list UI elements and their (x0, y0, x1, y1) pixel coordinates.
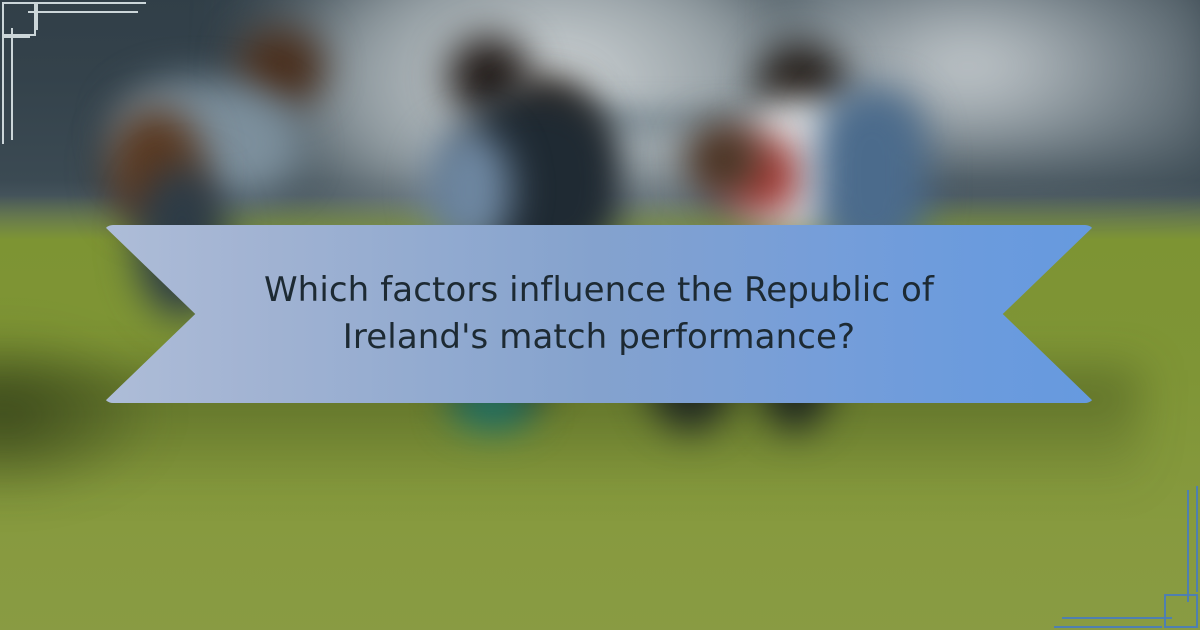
headline-line-2: Ireland's match performance? (343, 320, 855, 355)
headline-line-1: Which factors influence the Republic of (264, 273, 934, 308)
corner-line-top-inner (28, 11, 138, 13)
corner-square-icon (1164, 594, 1198, 628)
corner-line-right-outer (1196, 486, 1198, 592)
corner-line-right-inner (1187, 490, 1189, 602)
headline-banner: Which factors influence the Republic of … (103, 225, 1095, 403)
corner-line-top-outer (38, 2, 146, 4)
corner-ornament-bottom-right (1040, 470, 1200, 630)
corner-line-left-outer (2, 38, 4, 144)
screenshot-stage: Which factors influence the Republic of … (0, 0, 1200, 630)
corner-ornament-top-left (0, 0, 160, 160)
figure-right-arm (686, 122, 762, 196)
banner-text-block: Which factors influence the Republic of … (103, 225, 1095, 403)
corner-line-bottom-outer (1054, 626, 1162, 628)
corner-line-left-inner (11, 28, 13, 140)
corner-joint-vertical (36, 2, 38, 30)
corner-square-icon (2, 2, 36, 36)
corner-line-bottom-inner (1062, 617, 1172, 619)
corner-joint-horizontal (2, 36, 30, 38)
